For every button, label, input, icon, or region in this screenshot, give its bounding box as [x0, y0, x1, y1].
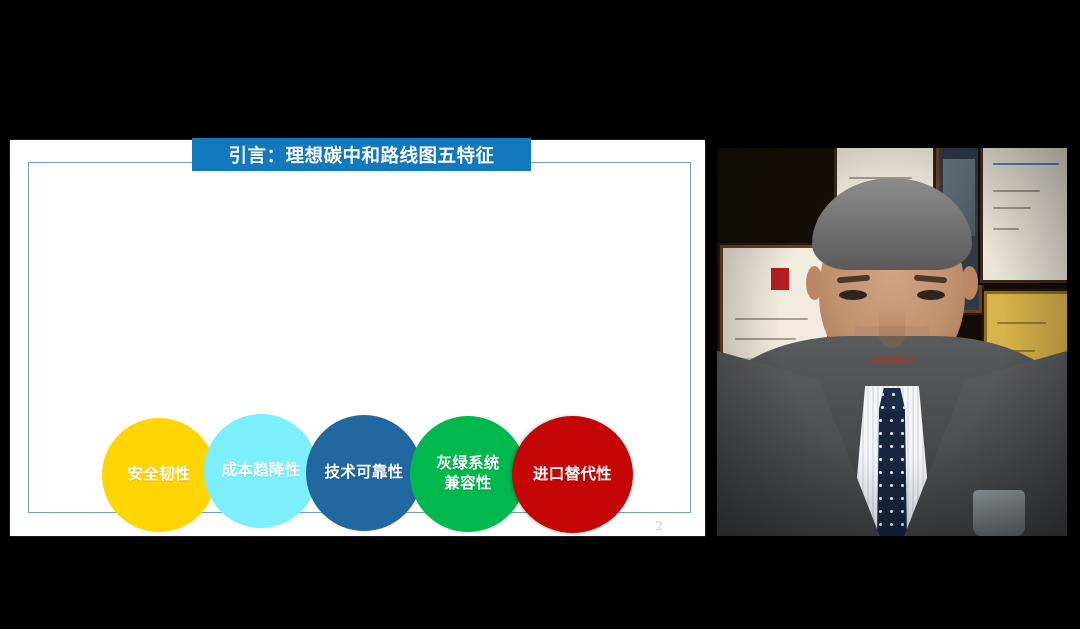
speaker-necktie	[875, 388, 909, 536]
circle-diagram: 安全韧性 成本趋降性 技术可靠性 灰绿系统兼容性 进口替代性	[10, 140, 705, 536]
certificate-seal	[771, 268, 789, 290]
diagram-circle-3-label: 技术可靠性	[320, 463, 407, 483]
presentation-slide[interactable]: 引言：理想碳中和路线图五特征 安全韧性 成本趋降性 技术可靠性 灰绿系统兼容性 …	[10, 140, 705, 536]
diagram-circle-4[interactable]: 灰绿系统兼容性	[410, 416, 526, 532]
speaker-nose	[879, 306, 905, 348]
speaker-video-frame	[717, 148, 1067, 536]
screen-root: 引言：理想碳中和路线图五特征 安全韧性 成本趋降性 技术可靠性 灰绿系统兼容性 …	[0, 0, 1080, 629]
diagram-circle-5-label: 进口替代性	[529, 465, 616, 485]
diagram-circle-1-label: 安全韧性	[123, 465, 194, 485]
diagram-circle-4-label: 灰绿系统兼容性	[432, 454, 503, 494]
slide-title-text: 引言：理想碳中和路线图五特征	[228, 142, 494, 168]
speaker-video-panel[interactable]	[715, 140, 1072, 544]
slide-page-number: 2	[655, 519, 663, 533]
speaker-eye-left	[839, 290, 867, 300]
speaker-eye-right	[917, 290, 945, 300]
diagram-circle-3[interactable]: 技术可靠性	[306, 415, 422, 531]
desk-glass	[973, 490, 1025, 536]
diagram-circle-2[interactable]: 成本趋降性	[204, 414, 318, 528]
speaker-mouth	[869, 356, 915, 364]
certificate-frame-right	[983, 148, 1067, 280]
slide-title-banner: 引言：理想碳中和路线图五特征	[192, 138, 531, 171]
diagram-circle-5[interactable]: 进口替代性	[512, 416, 633, 533]
diagram-circle-2-label: 成本趋降性	[217, 461, 304, 481]
diagram-circle-1[interactable]: 安全韧性	[102, 418, 216, 532]
